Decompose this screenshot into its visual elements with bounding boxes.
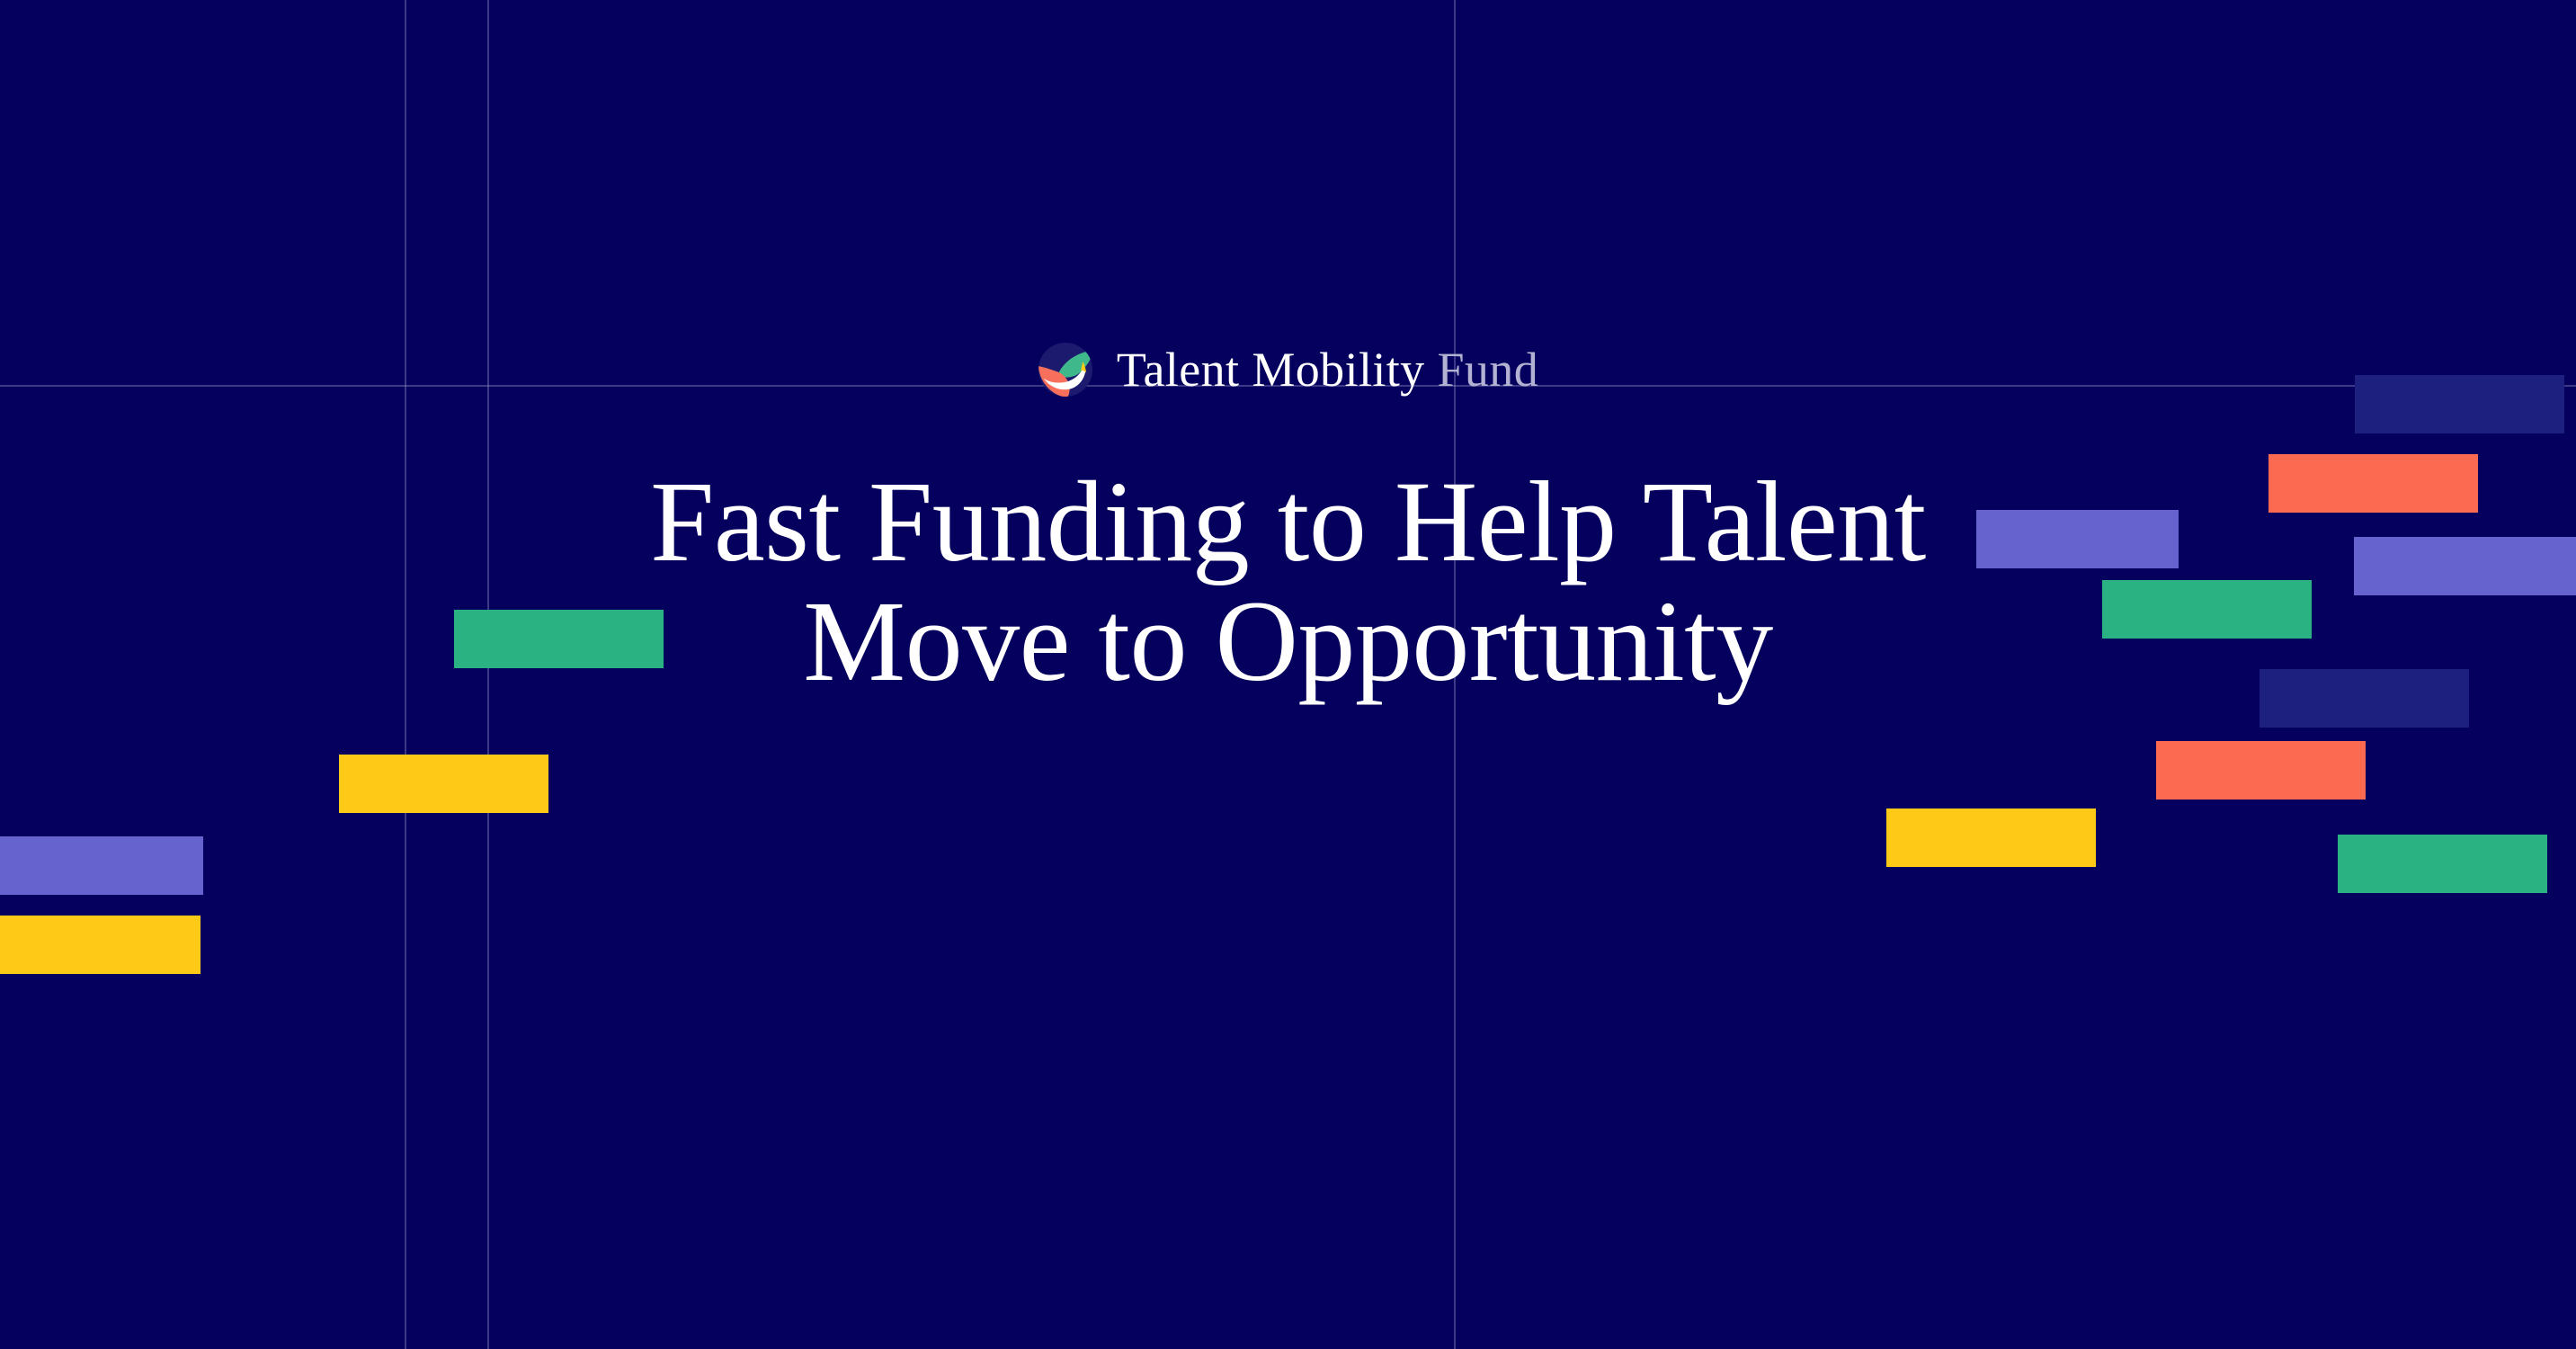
bar-right-coral-low — [2156, 741, 2366, 800]
bar-right-purple-far — [2354, 537, 2576, 595]
leaf-circle-logo-icon — [1038, 342, 1093, 398]
bar-right-navy-mid — [2260, 669, 2469, 728]
bar-left-green — [454, 610, 664, 668]
bar-left-yellow — [339, 755, 548, 813]
brand-name-primary: Talent Mobility — [1117, 343, 1425, 397]
brand-name-secondary: Fund — [1437, 343, 1538, 397]
bar-right-coral-top — [2268, 454, 2478, 513]
bar-right-green-mid — [2102, 580, 2312, 639]
bar-edge-yellow — [0, 916, 201, 974]
hero-headline: Fast Funding to Help Talent Move to Oppo… — [650, 462, 1927, 701]
bar-right-yellow-low — [1886, 809, 2096, 867]
bar-right-purple-left — [1976, 510, 2179, 568]
brand-wordmark: Talent Mobility Fund — [1117, 345, 1538, 394]
hero-page: Talent Mobility Fund Fast Funding to Hel… — [0, 0, 2576, 1349]
brand-lockup[interactable]: Talent Mobility Fund — [1038, 342, 1538, 398]
bar-edge-purple — [0, 836, 203, 895]
bar-right-green-low — [2338, 835, 2547, 893]
bar-right-navy-top — [2355, 375, 2564, 433]
